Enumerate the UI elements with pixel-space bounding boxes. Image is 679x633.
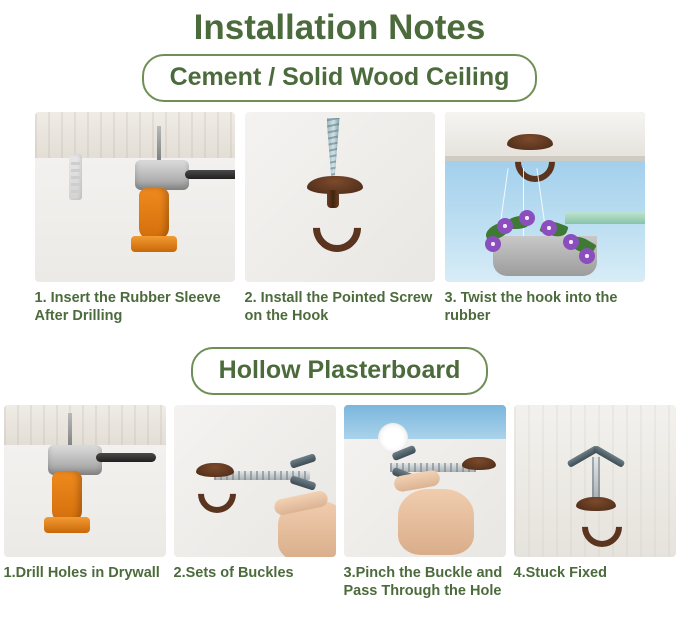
step-plaster-3-caption: 3.Pinch the Buckle and Pass Through the … — [344, 564, 506, 600]
step-plaster-1-caption: 1.Drill Holes in Drywall — [4, 564, 166, 582]
step-plaster-4-caption: 4.Stuck Fixed — [514, 564, 676, 582]
step-plaster-3: 3.Pinch the Buckle and Pass Through the … — [344, 405, 506, 600]
step-cement-3-caption: 3. Twist the hook into the rubber — [445, 289, 645, 325]
section-title-cement: Cement / Solid Wood Ceiling — [142, 54, 538, 102]
step-cement-3: 3. Twist the hook into the rubber — [445, 112, 645, 325]
step-cement-2-image — [245, 112, 435, 282]
step-cement-2: 2. Install the Pointed Screw on the Hook — [245, 112, 435, 325]
section-plasterboard-steps: 1.Drill Holes in Drywall 2.Sets of Buckl… — [0, 405, 679, 600]
step-plaster-2-image — [174, 405, 336, 557]
step-cement-3-image — [445, 112, 645, 282]
step-cement-1-caption: 1. Insert the Rubber Sleeve After Drilli… — [35, 289, 235, 325]
step-plaster-2: 2.Sets of Buckles — [174, 405, 336, 600]
installation-notes-page: Installation Notes Cement / Solid Wood C… — [0, 6, 679, 633]
step-cement-1: 1. Insert the Rubber Sleeve After Drilli… — [35, 112, 235, 325]
rubber-sleeve-icon — [69, 154, 82, 200]
step-plaster-2-caption: 2.Sets of Buckles — [174, 564, 336, 582]
section-header-cement: Cement / Solid Wood Ceiling — [0, 54, 679, 102]
step-plaster-1-image — [4, 405, 166, 557]
step-plaster-1: 1.Drill Holes in Drywall — [4, 405, 166, 600]
section-cement-steps: 1. Insert the Rubber Sleeve After Drilli… — [0, 112, 679, 325]
page-title: Installation Notes — [0, 6, 679, 50]
step-plaster-4: 4.Stuck Fixed — [514, 405, 676, 600]
step-cement-1-image — [35, 112, 235, 282]
step-cement-2-caption: 2. Install the Pointed Screw on the Hook — [245, 289, 435, 325]
section-header-plasterboard: Hollow Plasterboard — [0, 347, 679, 395]
step-plaster-3-image — [344, 405, 506, 557]
step-plaster-4-image — [514, 405, 676, 557]
section-title-plasterboard: Hollow Plasterboard — [191, 347, 489, 395]
